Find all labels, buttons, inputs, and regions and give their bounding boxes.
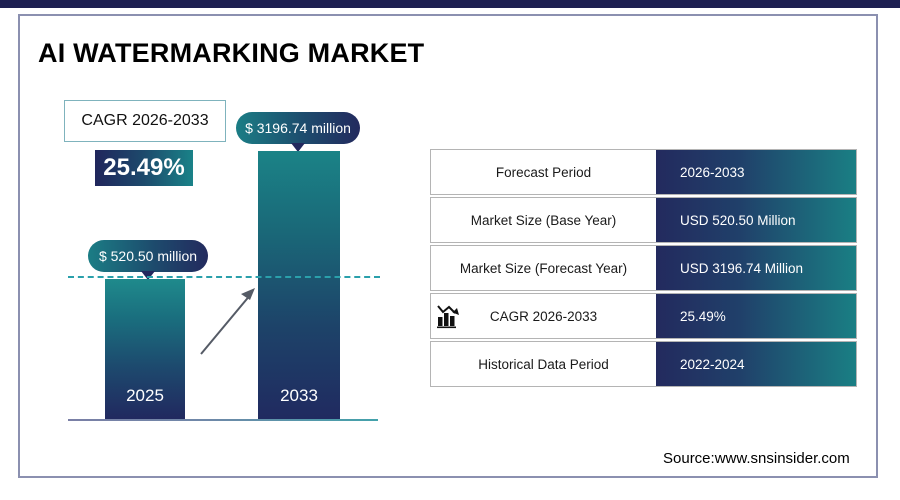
table-row: Market Size (Base Year) USD 520.50 Milli… <box>430 197 857 243</box>
table-row-label-text: Historical Data Period <box>478 357 609 372</box>
reference-dashed-line <box>68 276 380 278</box>
table-row: Historical Data Period 2022-2024 <box>430 341 857 387</box>
table-row: Forecast Period 2026-2033 <box>430 149 857 195</box>
table-row-value: 2026-2033 <box>656 150 856 194</box>
cagr-label-box: CAGR 2026-2033 <box>64 100 226 142</box>
table-row: Market Size (Forecast Year) USD 3196.74 … <box>430 245 857 291</box>
x-axis-line <box>68 419 378 421</box>
table-row-label-text: Market Size (Forecast Year) <box>460 261 627 276</box>
cagr-label-text: CAGR 2026-2033 <box>81 112 208 130</box>
table-row-label-text: CAGR 2026-2033 <box>490 309 597 324</box>
bar-chart-trend-icon <box>435 303 463 329</box>
table-row-label: Market Size (Forecast Year) <box>431 246 656 290</box>
table-row-label: Forecast Period <box>431 150 656 194</box>
table-row-value-text: 25.49% <box>680 309 726 324</box>
table-row-value-text: USD 520.50 Million <box>680 213 796 228</box>
table-row: CAGR 2026-2033 25.49% <box>430 293 857 339</box>
cagr-value-badge: 25.49% <box>95 150 193 186</box>
bar-2025: 2025 <box>105 279 185 420</box>
market-summary-table: Forecast Period 2026-2033 Market Size (B… <box>430 149 857 389</box>
table-row-value-text: 2022-2024 <box>680 357 745 372</box>
table-row-label-text: Market Size (Base Year) <box>471 213 617 228</box>
table-row-label: Historical Data Period <box>431 342 656 386</box>
growth-arrow-icon <box>195 280 265 360</box>
bar-2025-category: 2025 <box>105 386 185 406</box>
table-row-value: USD 3196.74 Million <box>656 246 856 290</box>
table-row-value: USD 520.50 Million <box>656 198 856 242</box>
value-callout-2033-text: $ 3196.74 million <box>245 120 351 136</box>
cagr-value-text: 25.49% <box>103 154 184 182</box>
table-row-label-text: Forecast Period <box>496 165 591 180</box>
table-row-value: 25.49% <box>656 294 856 338</box>
table-row-value-text: 2026-2033 <box>680 165 745 180</box>
value-callout-2033: $ 3196.74 million <box>236 112 360 144</box>
table-row-value: 2022-2024 <box>656 342 856 386</box>
value-callout-2025-text: $ 520.50 million <box>99 248 197 264</box>
source-attribution: Source:www.snsinsider.com <box>663 450 850 467</box>
table-row-label: CAGR 2026-2033 <box>431 294 656 338</box>
table-row-value-text: USD 3196.74 Million <box>680 261 803 276</box>
bar-2033: 2033 <box>258 151 340 420</box>
value-callout-2025: $ 520.50 million <box>88 240 208 272</box>
table-row-label: Market Size (Base Year) <box>431 198 656 242</box>
bar-2033-category: 2033 <box>258 386 340 406</box>
bar-chart: CAGR 2026-2033 25.49% $ 3196.74 million … <box>0 0 420 500</box>
